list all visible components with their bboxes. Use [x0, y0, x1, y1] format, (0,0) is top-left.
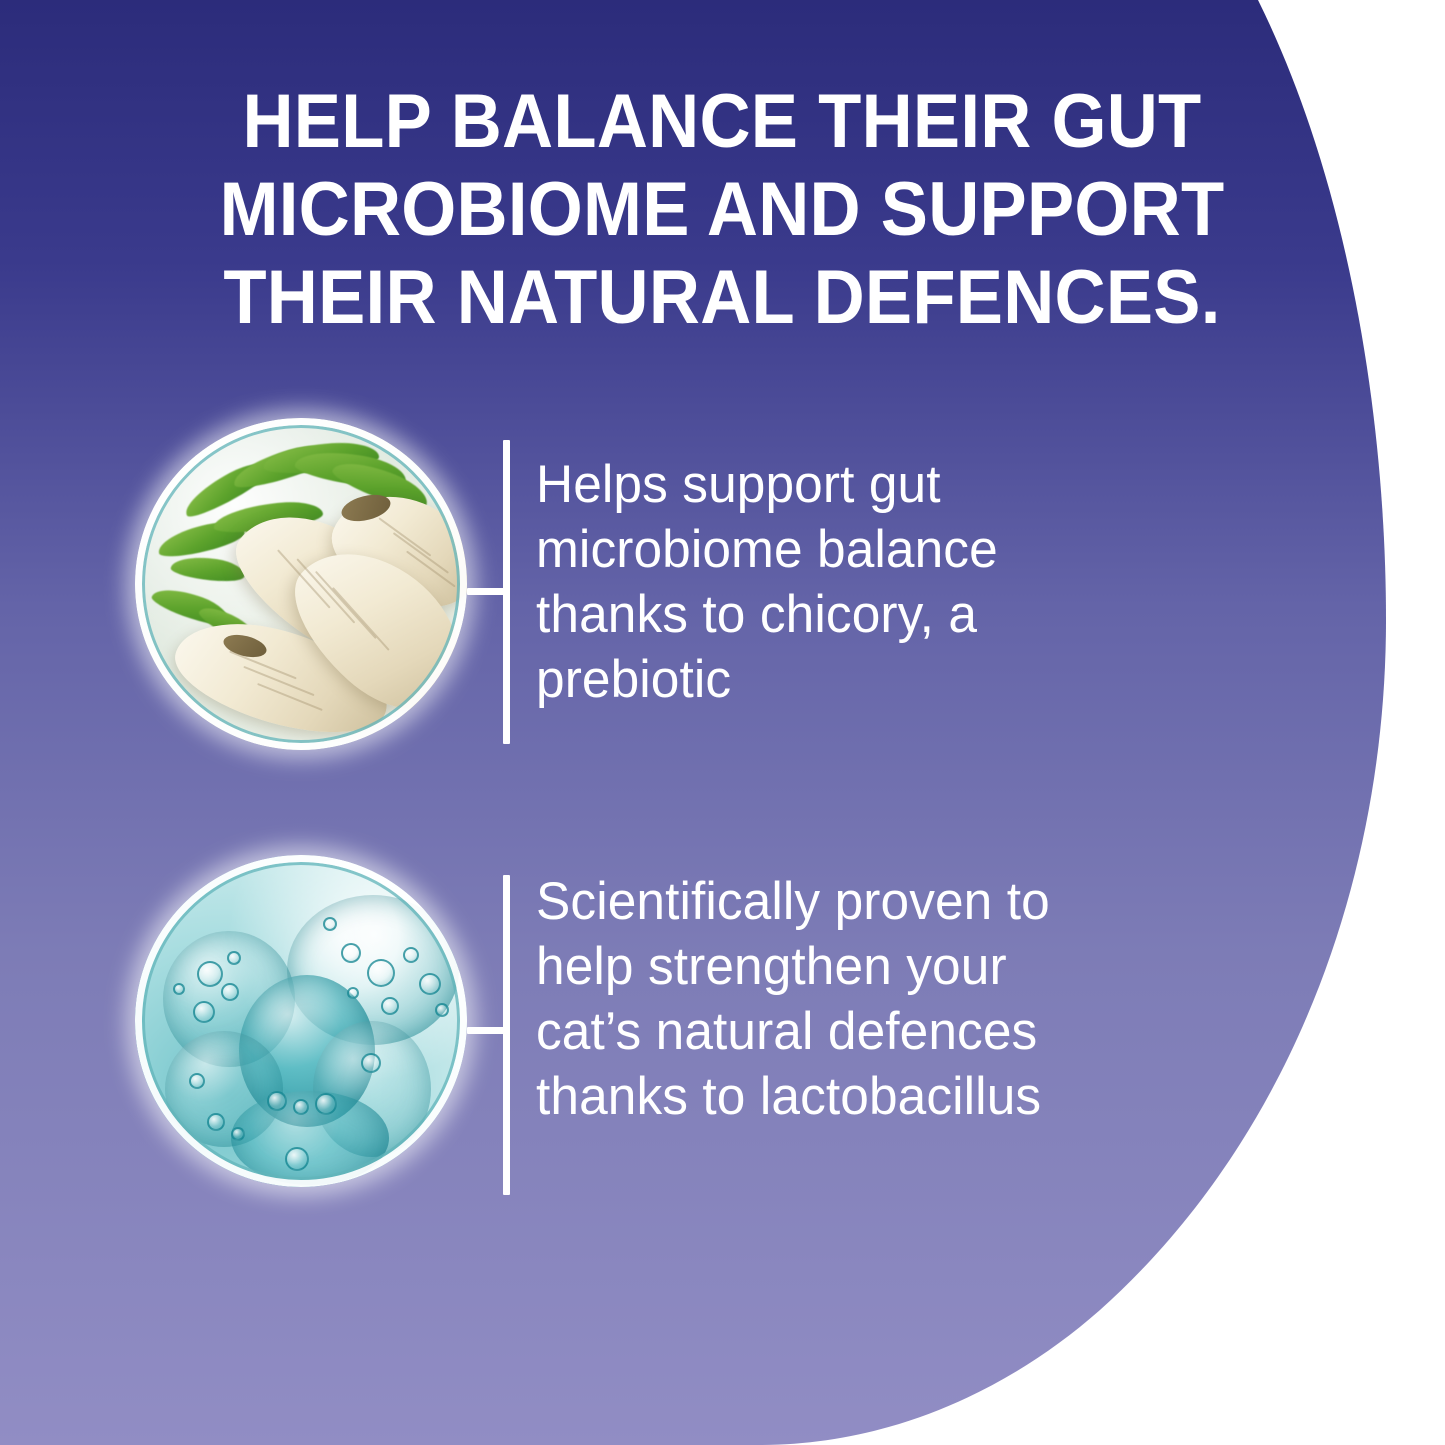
- feature-row-chicory: Helps support gut microbiome balance tha…: [135, 418, 1136, 750]
- feature-text-lactobacillus: Scientifically proven to help strengthen…: [536, 855, 1118, 1129]
- page-title: HELP BALANCE THEIR GUT MICROBIOME AND SU…: [164, 78, 1280, 342]
- chicory-root-petri-dish-icon: [135, 418, 467, 750]
- divider-vertical-line: [503, 875, 510, 1195]
- infographic-canvas: HELP BALANCE THEIR GUT MICROBIOME AND SU…: [0, 0, 1445, 1445]
- feature-text-chicory: Helps support gut microbiome balance tha…: [536, 418, 1118, 712]
- divider-tick-mark: [467, 588, 509, 595]
- divider-tick-mark: [467, 1027, 509, 1034]
- lactobacillus-bubbles-petri-dish-icon: [135, 855, 467, 1187]
- feature-row-lactobacillus: Scientifically proven to help strengthen…: [135, 855, 1136, 1187]
